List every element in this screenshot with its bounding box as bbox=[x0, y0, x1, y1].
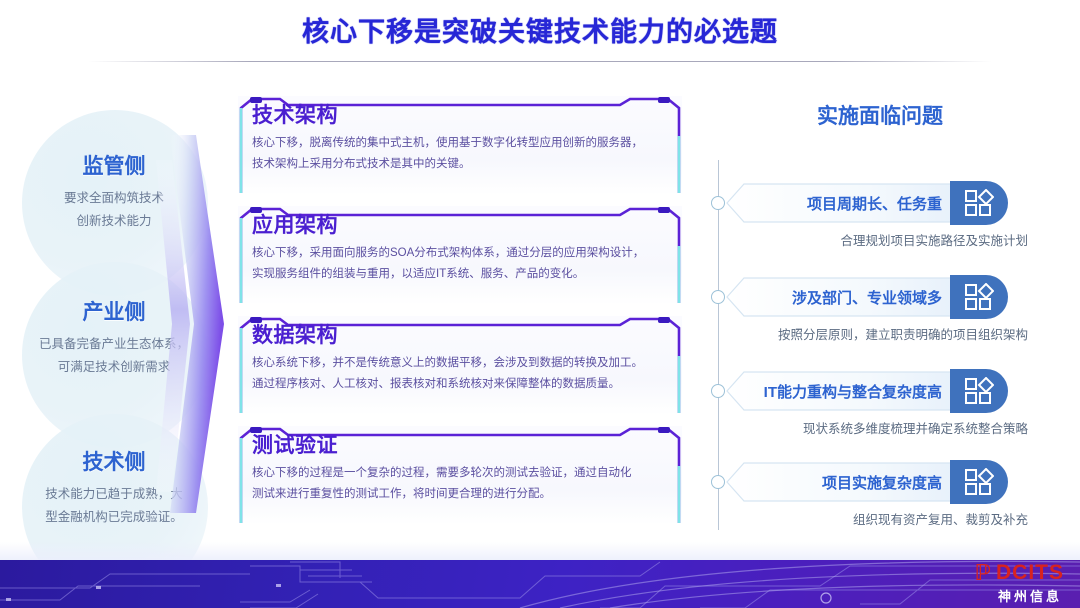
slide-root: 核心下移是突破关键技术能力的必选题 监管侧 要求全面构筑技术 创新技术能力 产业… bbox=[0, 0, 1080, 608]
company-logo: ℙ DCITS 神州信息 bbox=[888, 563, 1064, 603]
shapes-grid-icon bbox=[950, 275, 1008, 319]
card-text-line: 测试来进行重复性的测试工作，将时间更合理的进行分配。 bbox=[252, 484, 668, 505]
issue-subtext: 合理规划项目实施路径及实施计划 bbox=[726, 230, 1036, 249]
card-tech-architecture[interactable]: 技术架构 核心下移，脱离传统的集中式主机，使用基于数字化转型应用创新的服务器， … bbox=[238, 96, 682, 195]
timeline-node bbox=[711, 384, 725, 398]
shapes-grid-icon bbox=[950, 369, 1008, 413]
band-fade bbox=[0, 542, 1080, 560]
right-panel-title: 实施面临问题 bbox=[700, 100, 1060, 130]
card-title: 测试验证 bbox=[252, 433, 668, 458]
center-cards: 技术架构 核心下移，脱离传统的集中式主机，使用基于数字化转型应用创新的服务器， … bbox=[238, 96, 686, 536]
card-app-architecture[interactable]: 应用架构 核心下移，采用面向服务的SOA分布式架构体系，通过分层的应用架构设计，… bbox=[238, 206, 682, 305]
shapes-grid-icon bbox=[950, 460, 1008, 504]
issue-subtext: 组织现有资产复用、裁剪及补充 bbox=[726, 509, 1036, 528]
card-test-verification[interactable]: 测试验证 核心下移的过程是一个复杂的过程，需要多轮次的测试去验证，通过自动化 测… bbox=[238, 426, 682, 525]
logo-wordmark: DCITS bbox=[996, 562, 1064, 583]
card-text-line: 核心下移，脱离传统的集中式主机，使用基于数字化转型应用创新的服务器， bbox=[252, 133, 668, 154]
issue-label: IT能力重构与整合复杂度高 bbox=[726, 373, 952, 409]
issue-label: 项目周期长、任务重 bbox=[726, 185, 952, 221]
issue-label: 涉及部门、专业领域多 bbox=[726, 279, 952, 315]
title-divider bbox=[88, 61, 992, 62]
logo-chinese-name: 神州信息 bbox=[998, 586, 1062, 605]
issue-label: 项目实施复杂度高 bbox=[726, 464, 952, 500]
gradient-arrow-icon bbox=[150, 100, 230, 548]
card-text-line: 核心下移的过程是一个复杂的过程，需要多轮次的测试去验证，通过自动化 bbox=[252, 463, 668, 484]
card-title: 应用架构 bbox=[252, 213, 668, 238]
issue-subtext: 现状系统多维度梳理并确定系统整合策略 bbox=[726, 418, 1036, 437]
card-data-architecture[interactable]: 数据架构 核心系统下移，并不是传统意义上的数据平移，会涉及到数据的转换及加工。 … bbox=[238, 316, 682, 415]
card-text-line: 核心系统下移，并不是传统意义上的数据平移，会涉及到数据的转换及加工。 bbox=[252, 353, 668, 374]
card-text-line: 通过程序核对、人工核对、报表核对和系统核对来保障整体的数据质量。 bbox=[252, 374, 668, 395]
card-text-line: 实现服务组件的组装与重用，以适应IT系统、服务、产品的变化。 bbox=[252, 264, 668, 285]
shapes-grid-icon bbox=[950, 181, 1008, 225]
card-text-line: 核心下移，采用面向服务的SOA分布式架构体系，通过分层的应用架构设计， bbox=[252, 243, 668, 264]
page-title: 核心下移是突破关键技术能力的必选题 bbox=[0, 10, 1080, 49]
timeline-node bbox=[711, 290, 725, 304]
card-text-line: 技术架构上采用分布式技术是其中的关键。 bbox=[252, 154, 668, 175]
slide-header: 核心下移是突破关键技术能力的必选题 bbox=[0, 10, 1080, 49]
issue-subtext: 按照分层原则，建立职责明确的项目组织架构 bbox=[726, 324, 1036, 343]
footer-band: ℙ DCITS 神州信息 bbox=[0, 560, 1080, 608]
timeline-node bbox=[711, 475, 725, 489]
logo-swoosh-icon: ℙ bbox=[975, 562, 992, 584]
card-title: 数据架构 bbox=[252, 323, 668, 348]
left-panel: 监管侧 要求全面构筑技术 创新技术能力 产业侧 已具备完备产业生态体系， 可满足… bbox=[0, 96, 226, 548]
card-title: 技术架构 bbox=[252, 103, 668, 128]
right-panel: 实施面临问题 项目周期长、任务重 bbox=[700, 100, 1060, 550]
timeline-node bbox=[711, 196, 725, 210]
